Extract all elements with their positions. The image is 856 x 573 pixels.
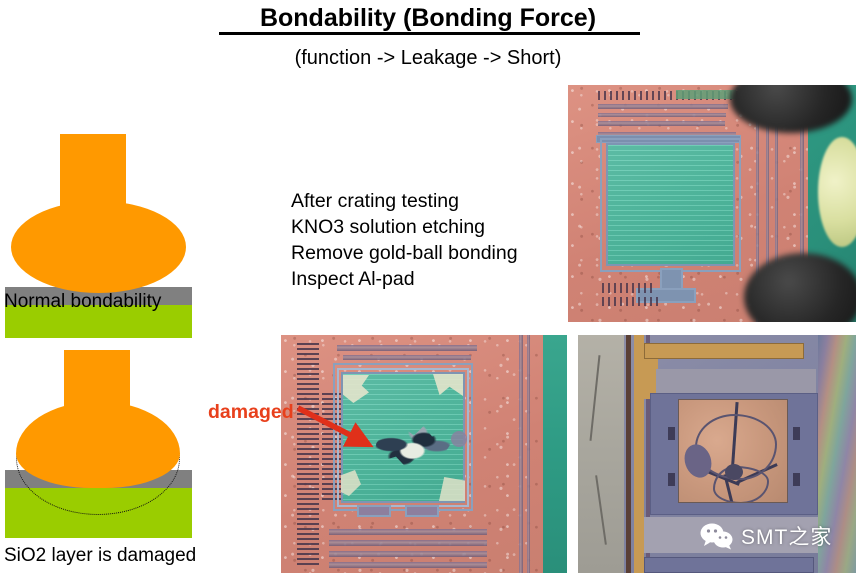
metal-trace (329, 540, 487, 546)
metal-trace (329, 562, 487, 568)
left-grey-band (578, 335, 624, 573)
trace-comb-bottom (602, 283, 656, 293)
metal-trace (598, 104, 728, 109)
metal-trace-vertical (519, 335, 523, 573)
micrograph-top-right (568, 85, 856, 322)
metal-trace-top (343, 355, 471, 360)
trace-comb-bottom-2 (602, 297, 662, 306)
bus-bar-dark (626, 335, 631, 573)
contact-square (668, 473, 675, 486)
micrograph-bottom-right (578, 335, 856, 573)
damaged-annotation-label: damaged (208, 401, 294, 424)
gold-trace-top (644, 343, 804, 359)
metal-trace (598, 113, 726, 117)
pad-tail-contact (660, 268, 683, 290)
process-step-4: Inspect Al-pad (291, 266, 518, 292)
crater-fleck (451, 431, 467, 447)
metal-trace (329, 529, 487, 535)
process-step-2: KNO3 solution etching (291, 214, 518, 240)
grey-shelf-bottom (644, 517, 822, 553)
process-step-1: After crating testing (291, 188, 518, 214)
teal-region-right (543, 335, 567, 573)
process-step-3: Remove gold-ball bonding (291, 240, 518, 266)
metal-trace-vertical (527, 335, 530, 573)
bus-bar-gold (634, 335, 644, 573)
bond-wire-stem (64, 350, 130, 422)
process-steps-list: After crating testing KNO3 solution etch… (291, 188, 518, 292)
title-underline (219, 32, 640, 35)
crater-node (725, 464, 743, 480)
metal-trace (329, 551, 487, 557)
diagram-damaged-sio2 (0, 340, 230, 540)
page-title: Bondability (Bonding Force) (0, 4, 856, 33)
damaged-arrow-icon (290, 400, 380, 460)
contact-square (793, 473, 800, 486)
contact-square (668, 427, 675, 440)
pad-tail-contact (357, 505, 391, 517)
contact-square (793, 427, 800, 440)
interference-fringes (818, 335, 856, 573)
slide-canvas: Bondability (Bonding Force) (function ->… (0, 0, 856, 573)
diagram-normal-bondability-label: Normal bondability (4, 291, 161, 313)
diagram-damaged-sio2-label: SiO2 layer is damaged (4, 545, 196, 567)
metal-trace-top (337, 345, 477, 351)
bar-bottom (644, 557, 814, 573)
diagram-normal-bondability (0, 60, 230, 285)
bond-wire-stem (60, 134, 126, 224)
metal-trace (676, 90, 736, 99)
al-pad (606, 143, 735, 266)
al-pad-cratered (678, 399, 788, 503)
pad-tail-contact (405, 505, 439, 517)
metal-trace (598, 121, 725, 126)
